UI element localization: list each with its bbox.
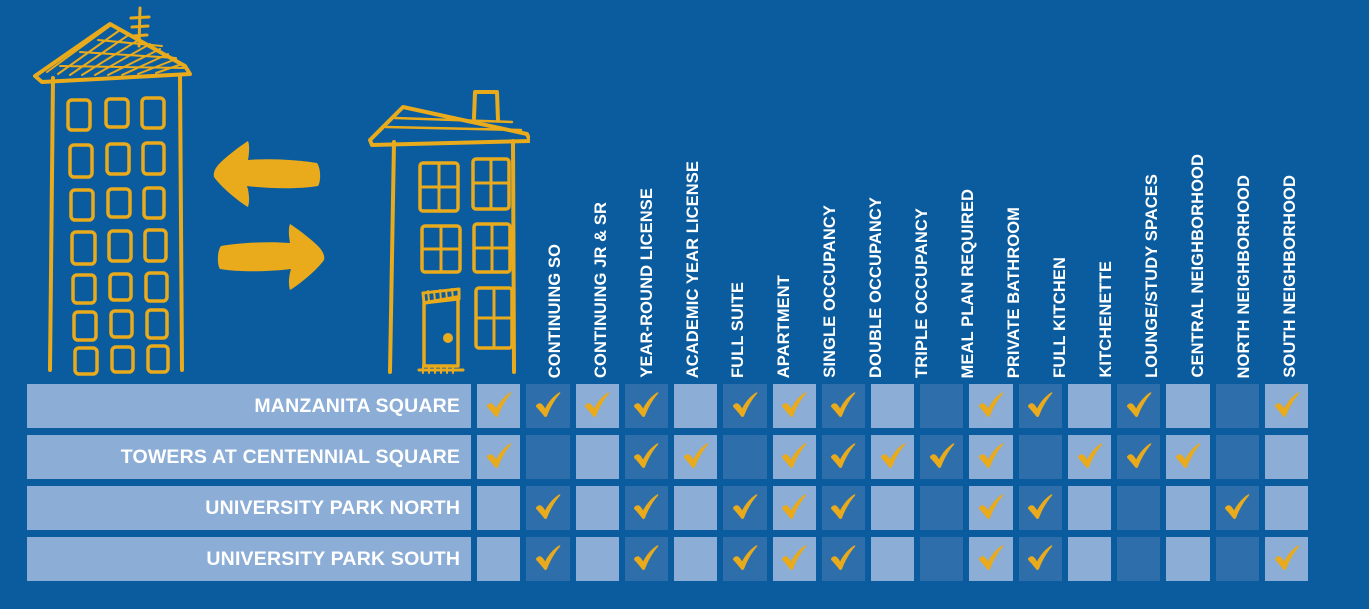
cell-r3-c9 [871, 486, 914, 530]
column-header-10: MEAL PLAN REQUIRED [948, 0, 988, 378]
cell-r2-c13 [1068, 435, 1111, 479]
cell-r4-c16 [1216, 537, 1259, 581]
cell-r3-c15 [1166, 486, 1209, 530]
column-header-4: ACADEMIC YEAR LICENSE [673, 0, 713, 378]
checkmark-icon [828, 442, 858, 472]
cell-r3-c3 [576, 486, 619, 530]
cell-r4-c9 [871, 537, 914, 581]
cell-r1-c6 [723, 384, 766, 428]
column-header-17: SOUTH NEIGHBORHOOD [1270, 0, 1310, 378]
cell-r4-c10 [920, 537, 963, 581]
cell-r1-c12 [1019, 384, 1062, 428]
column-header-label: KITCHENETTE [1098, 258, 1115, 378]
column-header-13: KITCHENETTE [1086, 0, 1126, 378]
column-header-label: SINGLE OCCUPANCY [822, 202, 839, 378]
cell-r4-c4 [625, 537, 668, 581]
column-header-11: PRIVATE BATHROOM [994, 0, 1034, 378]
checkmark-icon [631, 493, 661, 523]
column-header-2: CONTINUING JR & SR [581, 0, 621, 378]
cell-r2-c8 [822, 435, 865, 479]
cell-r3-c8 [822, 486, 865, 530]
checkmark-icon [1173, 442, 1203, 472]
checkmark-icon [1075, 442, 1105, 472]
row-label-1: MANZANITA SQUARE [27, 384, 471, 428]
cell-r3-c13 [1068, 486, 1111, 530]
checkmark-icon [1025, 493, 1055, 523]
cell-r1-c13 [1068, 384, 1111, 428]
cell-r2-c17 [1265, 435, 1308, 479]
cell-r2-c9 [871, 435, 914, 479]
checkmark-icon [779, 544, 809, 574]
cell-r3-c17 [1265, 486, 1308, 530]
cell-r1-c3 [576, 384, 619, 428]
cell-r4-c7 [773, 537, 816, 581]
table-row: UNIVERSITY PARK SOUTH [27, 537, 1308, 581]
row-label-4: UNIVERSITY PARK SOUTH [27, 537, 471, 581]
checkmark-icon [828, 493, 858, 523]
cell-r3-c11 [969, 486, 1012, 530]
checkmark-icon [631, 544, 661, 574]
column-header-9: TRIPLE OCCUPANCY [903, 0, 943, 378]
cell-r3-c10 [920, 486, 963, 530]
cell-r4-c3 [576, 537, 619, 581]
row-label-3: UNIVERSITY PARK NORTH [27, 486, 471, 530]
cell-r1-c10 [920, 384, 963, 428]
table-row: MANZANITA SQUARE [27, 384, 1308, 428]
cell-r2-c7 [773, 435, 816, 479]
cell-r3-c7 [773, 486, 816, 530]
cell-r4-c14 [1117, 537, 1160, 581]
column-header-16: NORTH NEIGHBORHOOD [1224, 0, 1264, 378]
cell-r4-c8 [822, 537, 865, 581]
table-row: TOWERS AT CENTENNIAL SQUARE [27, 435, 1308, 479]
checkmark-icon [730, 493, 760, 523]
cell-r3-c4 [625, 486, 668, 530]
checkmark-icon [1222, 493, 1252, 523]
checkmark-icon [779, 493, 809, 523]
column-header-row: CONTINUING SOCONTINUING JR & SRYEAR-ROUN… [535, 0, 1310, 378]
cell-r1-c4 [625, 384, 668, 428]
cell-r4-c13 [1068, 537, 1111, 581]
cell-r3-c1 [477, 486, 520, 530]
column-header-15: CENTRAL NEIGHBORHOOD [1178, 0, 1218, 378]
cell-r1-c7 [773, 384, 816, 428]
cell-r1-c8 [822, 384, 865, 428]
column-header-label: FULL KITCHEN [1052, 254, 1069, 378]
checkmark-icon [533, 493, 563, 523]
cell-r1-c2 [526, 384, 569, 428]
house-icon [370, 92, 530, 373]
cell-r2-c2 [526, 435, 569, 479]
checkmark-icon [631, 442, 661, 472]
checkmark-icon [730, 544, 760, 574]
checkmark-icon [779, 442, 809, 472]
checkmark-icon [976, 391, 1006, 421]
cell-r1-c16 [1216, 384, 1259, 428]
checkmark-icon [927, 442, 957, 472]
cell-r2-c5 [674, 435, 717, 479]
cell-r3-c6 [723, 486, 766, 530]
column-header-3: YEAR-ROUND LICENSE [627, 0, 667, 378]
cell-r2-c15 [1166, 435, 1209, 479]
cell-r4-c15 [1166, 537, 1209, 581]
cell-r2-c11 [969, 435, 1012, 479]
checkmark-icon [533, 544, 563, 574]
checkmark-icon [484, 391, 514, 421]
cell-r2-c6 [723, 435, 766, 479]
column-header-label: NORTH NEIGHBORHOOD [1236, 172, 1253, 378]
left-arrow-icon [214, 141, 320, 207]
cell-r2-c3 [576, 435, 619, 479]
column-header-label: ACADEMIC YEAR LICENSE [685, 158, 702, 378]
checkmark-icon [976, 493, 1006, 523]
column-header-label: CONTINUING SO [547, 241, 564, 378]
checkmark-icon [484, 442, 514, 472]
cell-r2-c12 [1019, 435, 1062, 479]
column-header-label: APARTMENT [776, 272, 793, 378]
column-header-1: CONTINUING SO [535, 0, 575, 378]
cell-r3-c16 [1216, 486, 1259, 530]
cell-r1-c17 [1265, 384, 1308, 428]
cell-r4-c5 [674, 537, 717, 581]
column-header-label: CONTINUING JR & SR [593, 199, 610, 378]
row-label-2: TOWERS AT CENTENNIAL SQUARE [27, 435, 471, 479]
column-header-label: PRIVATE BATHROOM [1006, 204, 1023, 378]
checkmark-icon [1025, 391, 1055, 421]
cell-r4-c12 [1019, 537, 1062, 581]
cell-r3-c14 [1117, 486, 1160, 530]
cell-r3-c2 [526, 486, 569, 530]
column-header-label: YEAR-ROUND LICENSE [639, 185, 656, 378]
checkmark-icon [582, 391, 612, 421]
cell-r1-c5 [674, 384, 717, 428]
cell-r2-c10 [920, 435, 963, 479]
cell-r1-c14 [1117, 384, 1160, 428]
table-row: UNIVERSITY PARK NORTH [27, 486, 1308, 530]
cell-r2-c14 [1117, 435, 1160, 479]
checkmark-icon [631, 391, 661, 421]
checkmark-icon [828, 544, 858, 574]
column-header-8: DOUBLE OCCUPANCY [857, 0, 897, 378]
column-header-label: SOUTH NEIGHBORHOOD [1282, 172, 1299, 378]
checkmark-icon [681, 442, 711, 472]
cell-r4-c11 [969, 537, 1012, 581]
cell-r1-c15 [1166, 384, 1209, 428]
cell-r2-c4 [625, 435, 668, 479]
column-header-6: APARTMENT [765, 0, 805, 378]
comparison-table: MANZANITA SQUARETOWERS AT CENTENNIAL SQU… [27, 384, 1308, 581]
right-arrow-icon [218, 224, 324, 290]
checkmark-icon [730, 391, 760, 421]
checkmark-icon [1272, 391, 1302, 421]
cell-r3-c12 [1019, 486, 1062, 530]
checkmark-icon [779, 391, 809, 421]
cell-r2-c16 [1216, 435, 1259, 479]
checkmark-icon [828, 391, 858, 421]
cell-r4-c2 [526, 537, 569, 581]
illustration-group [0, 0, 530, 380]
column-header-12: FULL KITCHEN [1040, 0, 1080, 378]
checkmark-icon [976, 544, 1006, 574]
checkmark-icon [1124, 391, 1154, 421]
checkmark-icon [1272, 544, 1302, 574]
column-header-label: FULL SUITE [730, 279, 747, 378]
cell-r1-c9 [871, 384, 914, 428]
cell-r1-c11 [969, 384, 1012, 428]
column-header-label: DOUBLE OCCUPANCY [868, 194, 885, 378]
cell-r4-c6 [723, 537, 766, 581]
column-header-7: SINGLE OCCUPANCY [811, 0, 851, 378]
checkmark-icon [878, 442, 908, 472]
checkmark-icon [533, 391, 563, 421]
checkmark-icon [1025, 544, 1055, 574]
column-header-label: CENTRAL NEIGHBORHOOD [1190, 151, 1207, 378]
cell-r4-c17 [1265, 537, 1308, 581]
housing-comparison-chart: CONTINUING SOCONTINUING JR & SRYEAR-ROUN… [0, 0, 1369, 609]
cell-r1-c1 [477, 384, 520, 428]
column-header-5: FULL SUITE [719, 0, 759, 378]
column-header-label: MEAL PLAN REQUIRED [960, 186, 977, 378]
column-header-14: LOUNGE/STUDY SPACES [1132, 0, 1172, 378]
cell-r3-c5 [674, 486, 717, 530]
cell-r2-c1 [477, 435, 520, 479]
checkmark-icon [976, 442, 1006, 472]
highrise-building-icon [35, 8, 190, 374]
checkmark-icon [1124, 442, 1154, 472]
column-header-label: TRIPLE OCCUPANCY [914, 205, 931, 378]
column-header-label: LOUNGE/STUDY SPACES [1144, 171, 1161, 378]
cell-r4-c1 [477, 537, 520, 581]
